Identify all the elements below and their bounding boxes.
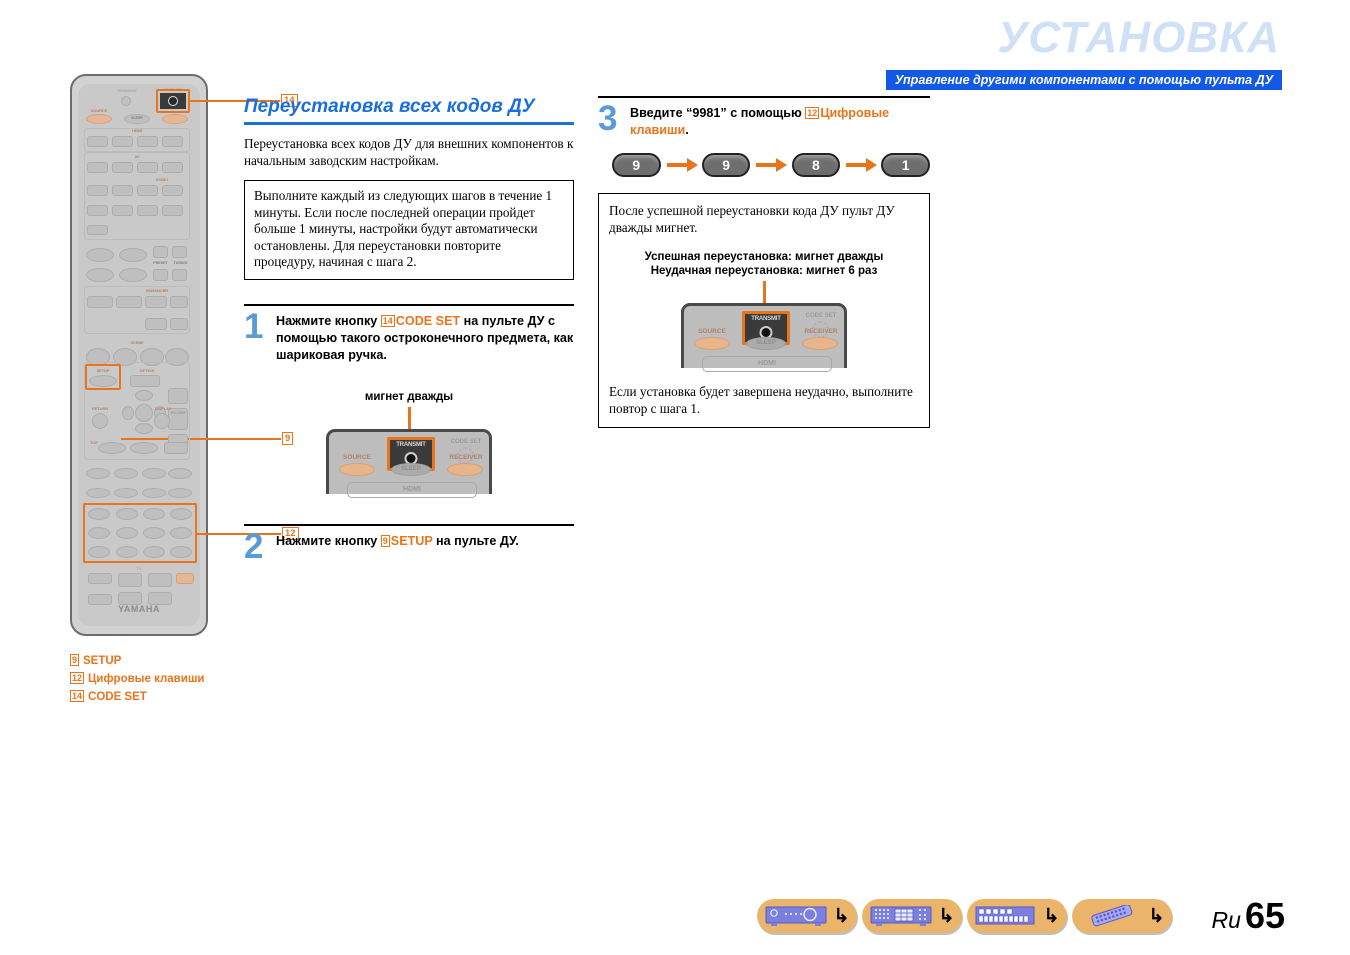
step1-transmit-label: TRANSMIT (390, 442, 432, 448)
step1-text-before: Нажмите кнопку (276, 314, 381, 328)
left-column: Переустановка всех кодов ДУ Переустановк… (244, 96, 574, 550)
hdmi-key-2[interactable] (112, 136, 133, 147)
note-text: Выполните каждый из следующих шагов в те… (254, 188, 564, 271)
sleep-label: SLEEP (124, 117, 150, 121)
result-intro: После успешной переустановки кода ДУ пул… (609, 203, 919, 236)
step1-source-label: SOURCE (335, 454, 379, 461)
legend-ref-12: 12 (70, 672, 84, 684)
result-box: После успешной переустановки кода ДУ пул… (598, 193, 930, 428)
step1-sleep-label: SLEEP (392, 464, 430, 475)
legend-item-numeric-keys: 12Цифровые клавиши (70, 670, 204, 688)
legend-label-12: Цифровые клавиши (88, 673, 204, 685)
search-fwd-button[interactable] (114, 488, 138, 498)
sequence-arrow-2 (752, 158, 789, 172)
step1-connector-line (408, 407, 411, 429)
legend-item-setup: 9SETUP (70, 652, 204, 670)
receiver-power-button[interactable] (162, 114, 188, 124)
hdmi-key-1[interactable] (87, 136, 108, 147)
sequence-key-4[interactable]: 1 (881, 153, 930, 177)
tv-power-button[interactable] (176, 573, 194, 584)
search-back-button[interactable] (86, 488, 110, 498)
page-number-value: 65 (1245, 895, 1285, 936)
preset-down-button[interactable] (153, 269, 168, 281)
receiver-rear-icon (870, 906, 932, 926)
source-group (84, 152, 190, 240)
sequence-key-1[interactable]: 9 (612, 153, 661, 177)
info-button[interactable] (86, 268, 114, 282)
step1-source-power[interactable] (339, 463, 375, 476)
step-3: 3 Введите “9981” с помощью 12Цифровые кл… (598, 105, 930, 139)
memory-button[interactable] (119, 268, 147, 282)
step2-text-before: Нажмите кнопку (276, 534, 381, 548)
step2-text: Нажмите кнопку 9SETUP на пульте ДУ. (276, 533, 574, 550)
sequence-key-2[interactable]: 9 (702, 153, 751, 177)
step2-ref: 9 (381, 535, 390, 547)
remote-transmit-label: TRANSMIT (106, 88, 148, 93)
step1-sleep-button[interactable]: SLEEP (391, 463, 431, 476)
remote-source-label: SOURCE (84, 108, 114, 113)
dsp-group (84, 286, 190, 334)
rec-button[interactable] (86, 468, 110, 479)
hook-arrow-icon: ↳ (1044, 907, 1060, 926)
footer-chip-receiver-front[interactable]: ↳ (757, 899, 857, 933)
play-button[interactable] (168, 468, 192, 479)
tuning-up-button[interactable] (172, 246, 187, 258)
right-column: 3 Введите “9981” с помощью 12Цифровые кл… (598, 96, 930, 428)
fm-button[interactable] (86, 248, 114, 262)
key-sequence: 9 9 8 1 (612, 153, 930, 177)
step2-ref-label: SETUP (391, 534, 433, 548)
step-2: 2 Нажмите кнопку 9SETUP на пульте ДУ. (244, 533, 574, 550)
step1-receiver-label: RECEIVER (441, 454, 491, 461)
step3-receiver-power[interactable] (802, 337, 838, 350)
remote-control-illustration: TRANSMIT CODE SET 14 SOURCE SLEEP HDMI A… (70, 74, 208, 636)
step3-receiver-label: RECEIVER (796, 328, 846, 335)
footer-chip-receiver-panel[interactable]: ↳ (967, 899, 1067, 933)
hook-arrow-icon: ↳ (939, 907, 955, 926)
sequence-arrow-1 (663, 158, 700, 172)
source-power-button[interactable] (86, 114, 112, 124)
step1-rule (244, 304, 574, 306)
stop-button[interactable] (114, 468, 138, 479)
skip-back-button[interactable] (142, 488, 166, 498)
step3-ref: 12 (805, 107, 819, 119)
tuning-label: TUNING (170, 262, 191, 266)
note-box: Выполните каждый из следующих шагов в те… (244, 180, 574, 280)
step3-hdmi-bar: HDMI (702, 356, 832, 372)
sequence-arrow-3 (842, 158, 879, 172)
step1-code-set-label: CODE SET (443, 439, 489, 445)
pause-button[interactable] (142, 468, 166, 479)
highlight-numeric-keys (83, 503, 197, 563)
step1-hdmi-label: HDMI (348, 483, 476, 497)
step3-source-power[interactable] (694, 337, 730, 350)
step3-rule (598, 96, 930, 98)
step2-rule (244, 524, 574, 526)
step1-hdmi-bar: HDMI (347, 482, 477, 498)
control-group (84, 362, 190, 460)
receiver-front-icon (765, 906, 827, 926)
result-outro: Если установка будет завершена неудачно,… (609, 384, 919, 417)
result-caption-line1: Успешная переустановка: мигнет дважды (609, 250, 919, 264)
step1-ref: 14 (381, 315, 395, 327)
scene-label: SCENE (84, 340, 190, 345)
footer-chip-receiver-rear[interactable]: ↳ (862, 899, 962, 933)
step3-transmit-label: TRANSMIT (745, 316, 787, 322)
preset-up-button[interactable] (153, 246, 168, 258)
receiver-panel-icon (975, 906, 1037, 926)
step1-receiver-power[interactable] (447, 463, 483, 476)
step3-connector-line (763, 281, 766, 303)
step3-number: 3 (598, 101, 617, 136)
legend-label-14: CODE SET (88, 691, 147, 703)
step3-text-after: . (685, 123, 689, 137)
tv-label: TV (86, 566, 192, 571)
step3-sleep-label: SLEEP (747, 338, 785, 349)
section-heading: Переустановка всех кодов ДУ (244, 96, 574, 118)
skip-fwd-button[interactable] (168, 488, 192, 498)
preset-label: PRESET (150, 262, 171, 266)
callout-legend: 9SETUP 12Цифровые клавиши 14CODE SET (70, 652, 204, 706)
section-heading-rule (244, 122, 574, 125)
section-intro: Переустановка всех кодов ДУ для внешних … (244, 136, 574, 169)
tv-ch-up-button[interactable] (148, 573, 172, 587)
page-number: Ru65 (1212, 895, 1285, 937)
step1-text: Нажмите кнопку 14CODE SET на пульте ДУ с… (276, 313, 574, 364)
step2-number: 2 (244, 529, 263, 564)
step-1: 1 Нажмите кнопку 14CODE SET на пульте ДУ… (244, 313, 574, 364)
step3-sleep-button[interactable]: SLEEP (746, 337, 786, 350)
brand-logo: YAMAHA (72, 604, 206, 614)
hdmi-key-4[interactable] (162, 136, 183, 147)
hook-arrow-icon: ↳ (834, 907, 850, 926)
section-header-bar: Управление другими компонентами с помощь… (886, 70, 1282, 90)
remote-control-icon (1080, 905, 1142, 927)
sequence-key-3[interactable]: 8 (792, 153, 841, 177)
legend-ref-9: 9 (70, 654, 79, 666)
footer: ↳ ↳ (0, 897, 1350, 945)
legend-ref-14: 14 (70, 690, 84, 702)
tv-input-button[interactable] (88, 573, 112, 584)
hdmi-key-3[interactable] (137, 136, 158, 147)
step3-text: Введите “9981” с помощью 12Цифровые клав… (630, 105, 930, 139)
step2-text-after: на пульте ДУ. (433, 534, 519, 548)
legend-item-code-set: 14CODE SET (70, 688, 204, 706)
step3-source-label: SOURCE (690, 328, 734, 335)
step1-caption: мигнет дважды (244, 390, 574, 404)
document-title: УСТАНОВКА (998, 16, 1280, 60)
result-caption-line2: Неудачная переустановка: мигнет 6 раз (609, 264, 919, 278)
hdmi-label: HDMI (84, 128, 190, 133)
am-button[interactable] (119, 248, 147, 262)
hook-arrow-icon: ↳ (1149, 907, 1165, 926)
step1-remote-panel: TRANSMIT CODE SET SOURCE SLEEP RECEIVER … (326, 429, 492, 494)
tuning-down-button[interactable] (172, 269, 187, 281)
step3-hdmi-label: HDMI (703, 357, 831, 371)
highlight-code-set (156, 89, 190, 113)
step3-remote-panel: TRANSMIT CODE SET SOURCE SLEEP RECEIVER … (681, 303, 847, 368)
footer-chip-remote[interactable]: ↳ (1072, 899, 1172, 933)
step1-number: 1 (244, 309, 263, 344)
tv-vol-up-button[interactable] (118, 573, 142, 587)
step3-code-set-label: CODE SET (798, 313, 844, 319)
step3-text-before: Введите “9981” с помощью (630, 106, 805, 120)
legend-label-9: SETUP (83, 655, 121, 667)
transmit-led (121, 96, 131, 106)
section-header-label: Управление другими компонентами с помощь… (886, 70, 1282, 90)
step1-ref-label: CODE SET (396, 314, 460, 328)
page-prefix: Ru (1212, 907, 1241, 933)
